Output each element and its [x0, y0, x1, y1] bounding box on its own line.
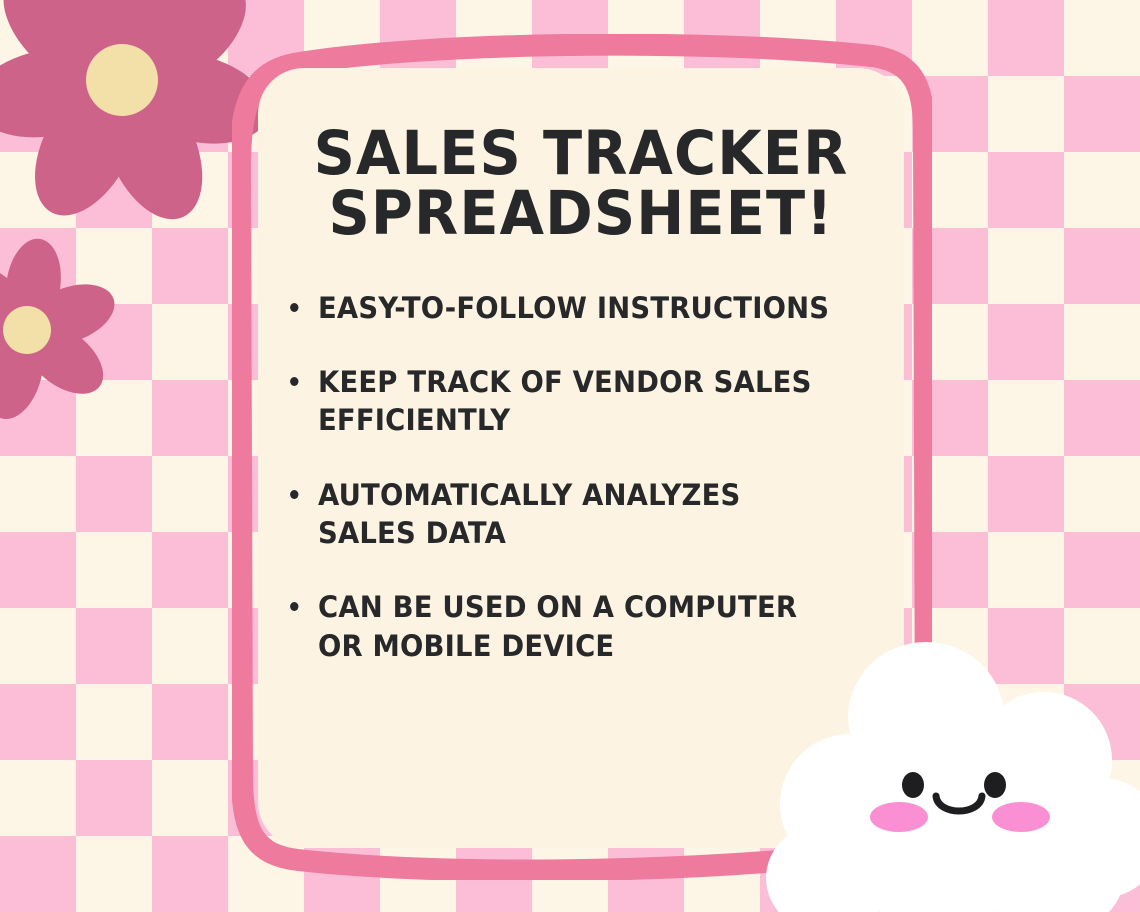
flower-center: [3, 306, 51, 354]
card-content: SALES TRACKER SPREADSHEET! EASY-TO-FOLLO…: [258, 68, 904, 665]
list-item-label: AUTOMATICALLY ANALYZES SALES DATA: [318, 478, 740, 550]
cloud-blush-left: [870, 802, 928, 832]
smiling-cloud-icon: [752, 636, 1140, 912]
cloud-eye-right-icon: [984, 772, 1006, 798]
bullet-dot-icon: [290, 377, 298, 386]
bullet-dot-icon: [290, 602, 298, 611]
list-item: AUTOMATICALLY ANALYZES SALES DATA: [318, 476, 837, 553]
list-item-label: EASY-TO-FOLLOW INSTRUCTIONS: [318, 291, 829, 325]
list-item: KEEP TRACK OF VENDOR SALES EFFICIENTLY: [318, 363, 837, 440]
cloud-blush-right: [992, 802, 1050, 832]
cloud-eye-left-icon: [902, 772, 924, 798]
list-item: EASY-TO-FOLLOW INSTRUCTIONS: [318, 289, 837, 327]
flower-small-icon: [0, 241, 116, 419]
cloud-smile-icon: [932, 792, 986, 822]
list-item-label: KEEP TRACK OF VENDOR SALES EFFICIENTLY: [318, 365, 812, 437]
bullet-dot-icon: [290, 303, 298, 312]
feature-list: EASY-TO-FOLLOW INSTRUCTIONS KEEP TRACK O…: [276, 289, 886, 665]
bullet-dot-icon: [290, 490, 298, 499]
flower-large-icon: [0, 0, 262, 220]
page-title: SALES TRACKER SPREADSHEET!: [294, 124, 867, 245]
promo-poster: SALES TRACKER SPREADSHEET! EASY-TO-FOLLO…: [0, 0, 1140, 912]
list-item-label: CAN BE USED ON A COMPUTER OR MOBILE DEVI…: [318, 590, 797, 662]
flower-center: [86, 44, 158, 116]
